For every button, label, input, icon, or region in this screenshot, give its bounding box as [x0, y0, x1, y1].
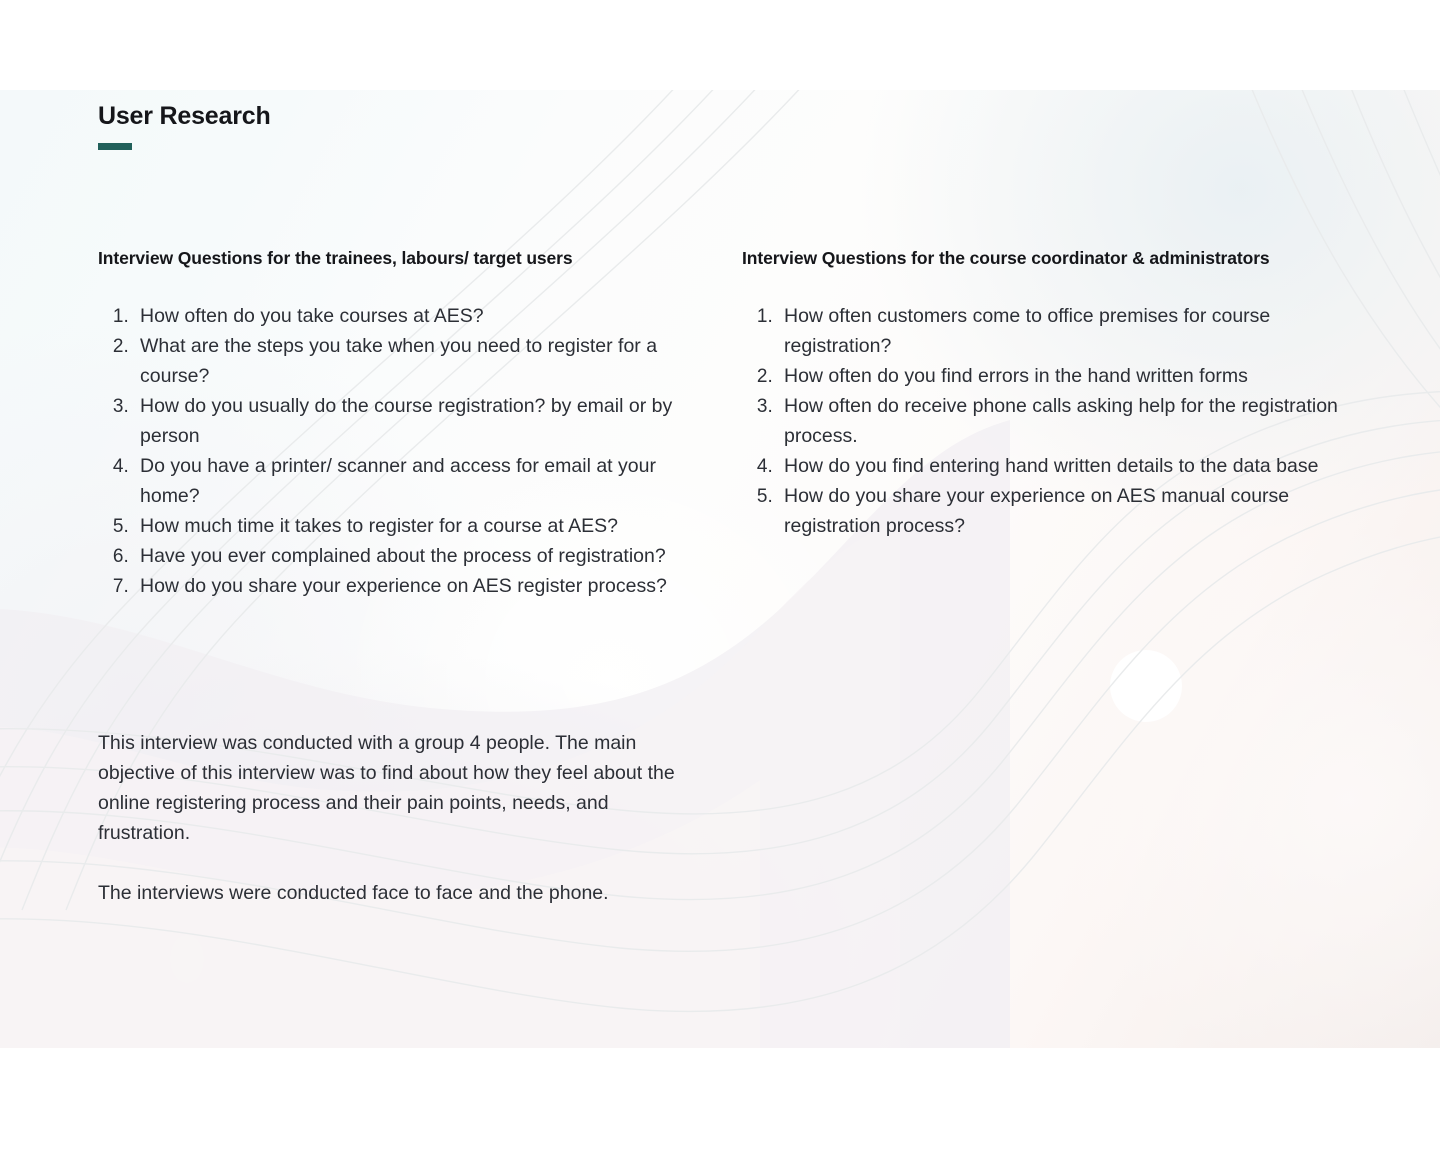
slide-header: User Research: [98, 102, 271, 150]
list-item: Have you ever complained about the proce…: [134, 541, 694, 571]
list-item: How do you share your experience on AES …: [134, 571, 694, 601]
column-coordinators: Interview Questions for the course coord…: [742, 243, 1338, 541]
column-heading-coordinators: Interview Questions for the course coord…: [742, 243, 1338, 273]
list-item: How often customers come to office premi…: [778, 301, 1338, 361]
list-item: How much time it takes to register for a…: [134, 511, 694, 541]
list-item: How do you usually do the course registr…: [134, 391, 694, 451]
interview-summary-paragraph: This interview was conducted with a grou…: [98, 728, 698, 848]
question-list-coordinators: How often customers come to office premi…: [742, 301, 1338, 541]
list-item: What are the steps you take when you nee…: [134, 331, 694, 391]
list-item: How do you share your experience on AES …: [778, 481, 1338, 541]
list-item: How often do receive phone calls asking …: [778, 391, 1338, 451]
column-heading-trainees: Interview Questions for the trainees, la…: [98, 243, 694, 273]
title-accent-rule: [98, 143, 132, 150]
question-list-trainees: How often do you take courses at AES? Wh…: [98, 301, 694, 601]
list-item: How often do you find errors in the hand…: [778, 361, 1338, 391]
slide-card: User Research Interview Questions for th…: [0, 90, 1440, 1048]
column-trainees: Interview Questions for the trainees, la…: [98, 243, 694, 601]
list-item: How do you find entering hand written de…: [778, 451, 1338, 481]
list-item: How often do you take courses at AES?: [134, 301, 694, 331]
list-item: Do you have a printer/ scanner and acces…: [134, 451, 694, 511]
interview-method-paragraph: The interviews were conducted face to fa…: [98, 878, 718, 908]
slide-content: User Research Interview Questions for th…: [0, 90, 1440, 1048]
page-title: User Research: [98, 102, 271, 131]
